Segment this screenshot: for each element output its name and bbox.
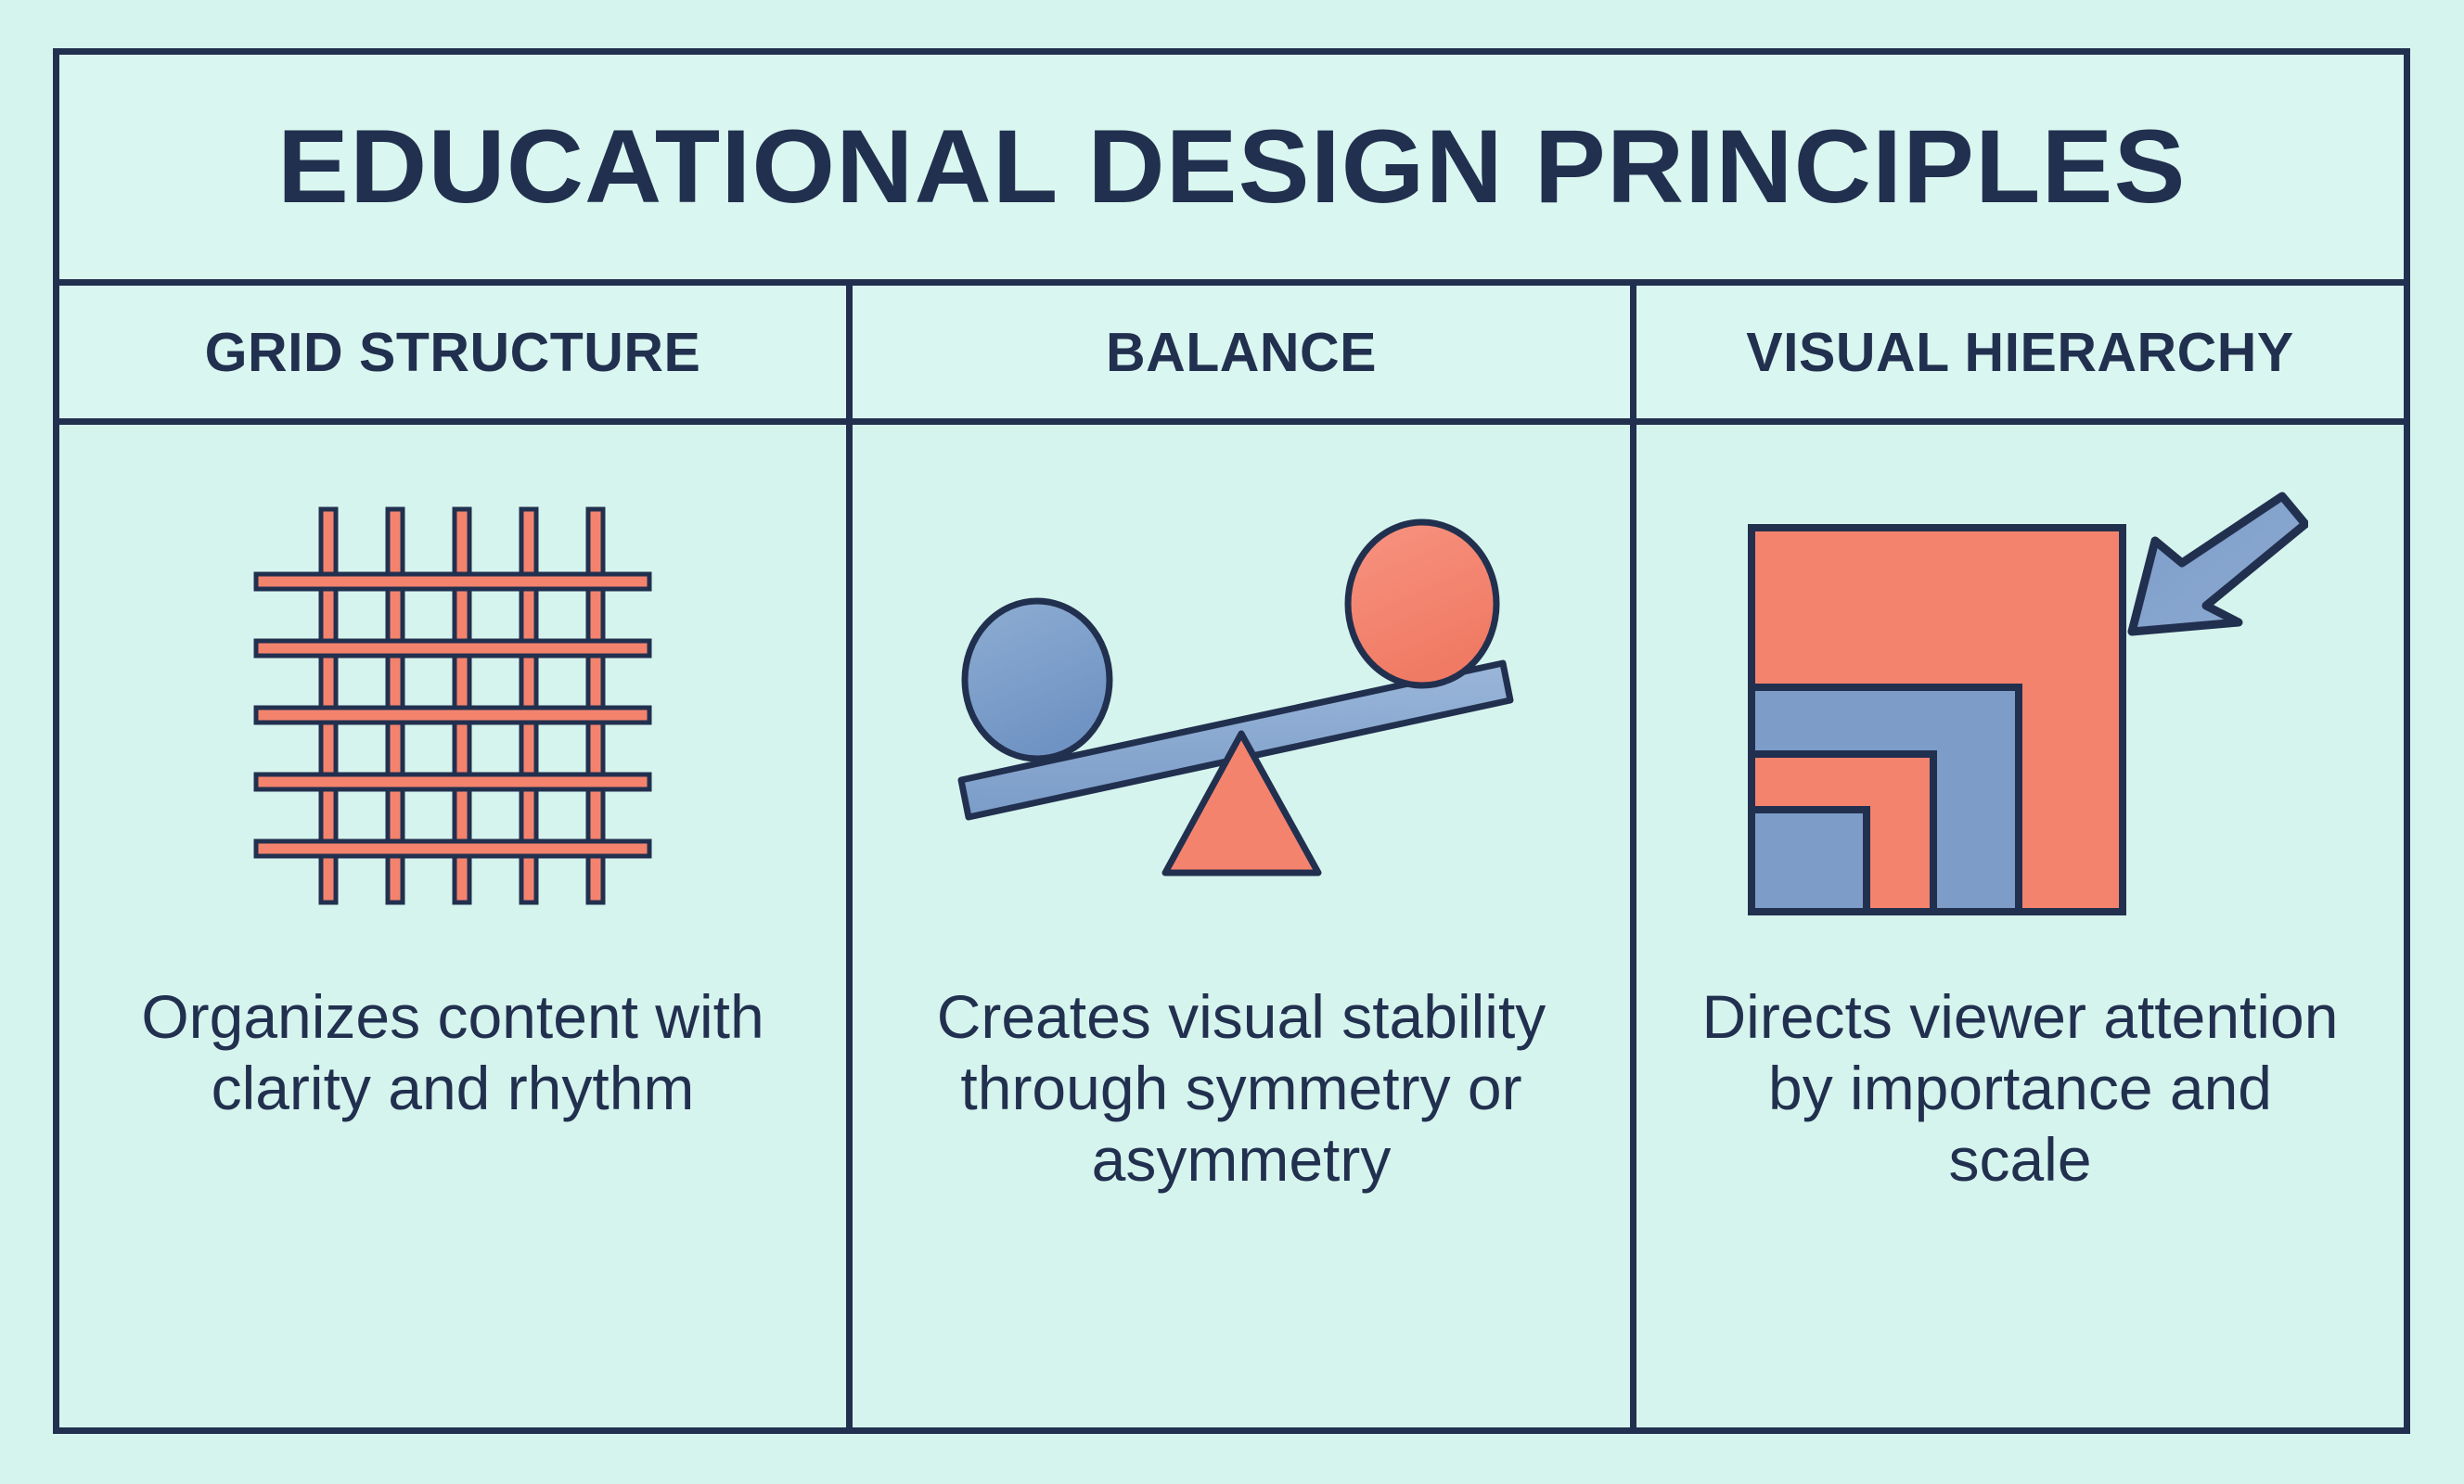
column-visual-hierarchy: Directs viewer attention by importance a… (1630, 425, 2404, 1427)
column-header-label: VISUAL HIERARCHY (1746, 321, 2293, 384)
title-band: EDUCATIONAL DESIGN PRINCIPLES (59, 55, 2404, 286)
column-header-label: GRID STRUCTURE (205, 321, 701, 384)
balance-right-weight (1348, 522, 1496, 685)
balance-scale-icon (935, 502, 1547, 910)
column-caption: Organizes content with clarity and rhyth… (109, 981, 796, 1124)
column-header-grid-structure: GRID STRUCTURE (59, 286, 846, 418)
nested-rectangles-icon (1733, 483, 2308, 928)
column-header-label: BALANCE (1106, 321, 1377, 384)
column-caption: Directs viewer attention by importance a… (1668, 981, 2373, 1196)
grid-lines-icon (239, 493, 666, 919)
hierarchy-layer-4 (1752, 810, 1867, 912)
column-header-visual-hierarchy: VISUAL HIERARCHY (1630, 286, 2404, 418)
illustration-slot (853, 425, 1630, 981)
arrow-down-left-icon (2132, 496, 2305, 632)
column-body-row: Organizes content with clarity and rhyth… (59, 425, 2404, 1427)
poster-frame: EDUCATIONAL DESIGN PRINCIPLES GRID STRUC… (53, 48, 2410, 1434)
column-balance: Creates visual stability through symmetr… (846, 425, 1630, 1427)
illustration-slot (59, 425, 846, 981)
illustration-slot (1636, 425, 2404, 981)
column-caption: Creates visual stability through symmetr… (889, 981, 1594, 1196)
balance-left-weight (965, 601, 1110, 759)
page-title: EDUCATIONAL DESIGN PRINCIPLES (277, 115, 2186, 219)
column-header-row: GRID STRUCTURE BALANCE VISUAL HIERARCHY (59, 286, 2404, 425)
column-grid-structure: Organizes content with clarity and rhyth… (59, 425, 846, 1427)
column-header-balance: BALANCE (846, 286, 1630, 418)
